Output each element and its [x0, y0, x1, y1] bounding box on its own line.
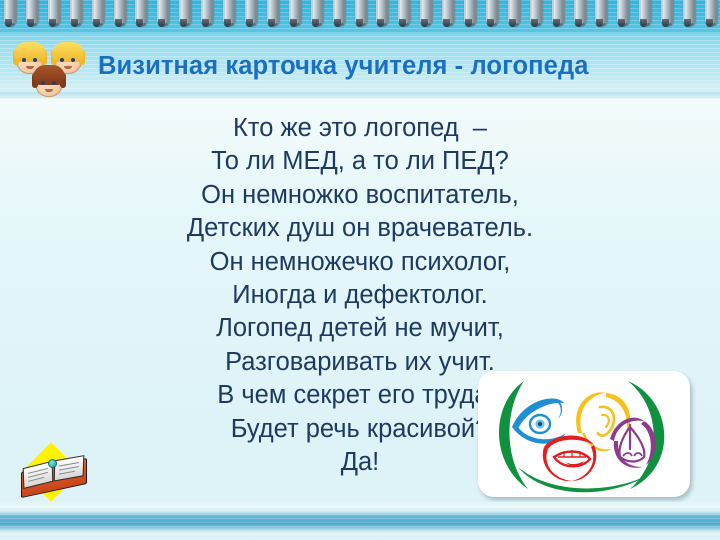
- spiral-ring: [311, 0, 322, 26]
- spiral-ring: [683, 0, 694, 26]
- spiral-ring: [486, 0, 497, 26]
- spiral-ring-tip: [49, 19, 56, 27]
- spiral-ring: [245, 0, 256, 26]
- spiral-ring: [355, 0, 366, 26]
- spiral-ring-tip: [575, 19, 582, 27]
- spiral-ring-tip: [224, 19, 231, 27]
- footer-band: [0, 502, 720, 540]
- three-children-heads-icon: [13, 41, 87, 99]
- spiral-ring-tip: [662, 19, 669, 27]
- green-arc-right: [628, 381, 664, 489]
- spiral-ring: [92, 0, 103, 26]
- spiral-ring: [135, 0, 146, 26]
- spiral-ring: [4, 0, 15, 26]
- spiral-ring: [289, 0, 300, 26]
- spiral-ring: [705, 0, 716, 26]
- senses-logo-graphic: [478, 371, 690, 497]
- spiral-ring: [201, 0, 212, 26]
- spiral-ring-tip: [553, 19, 560, 27]
- spiral-ring: [398, 0, 409, 26]
- poem-line: Он немножечко психолог,: [0, 246, 720, 279]
- spiral-ring-tip: [202, 19, 209, 27]
- spiral-ring-tip: [706, 19, 713, 27]
- spiral-ring-tip: [290, 19, 297, 27]
- child-eye-left: [22, 58, 26, 62]
- poem-line: Он немножко воспитатель,: [0, 179, 720, 212]
- child-hair-blonde: [14, 42, 46, 62]
- spiral-ring: [552, 0, 563, 26]
- poem-line: То ли МЕД, а то ли ПЕД?: [0, 145, 720, 178]
- child-eye-right: [33, 58, 37, 62]
- spiral-ring-tip: [465, 19, 472, 27]
- senses-logo: [478, 371, 690, 497]
- spiral-ring-tip: [684, 19, 691, 27]
- book-gem-icon: [48, 459, 57, 468]
- spiral-ring-tip: [334, 19, 341, 27]
- slide-canvas: Визитная карточка учителя - логопеда Кто…: [0, 0, 720, 540]
- poem-line: Логопед детей не мучит,: [0, 312, 720, 345]
- child-hair-brown: [33, 65, 65, 85]
- spiral-ring: [267, 0, 278, 26]
- child-eye-right: [71, 58, 75, 62]
- poem-line: Детских душ он врачеватель.: [0, 212, 720, 245]
- spiral-binding: [0, 0, 720, 34]
- spiral-ring: [114, 0, 125, 26]
- spiral-ring-tip: [268, 19, 275, 27]
- spiral-ring-tip: [487, 19, 494, 27]
- spiral-ring: [333, 0, 344, 26]
- spiral-ring: [157, 0, 168, 26]
- header-bottom-edge: [0, 92, 720, 100]
- nose-glyph: [610, 418, 656, 468]
- spiral-ring: [574, 0, 585, 26]
- spiral-ring: [26, 0, 37, 26]
- poem-line: Иногда и дефектолог.: [0, 279, 720, 312]
- spiral-ring-tip: [443, 19, 450, 27]
- child-eye-left: [41, 81, 45, 85]
- spiral-ring: [639, 0, 650, 26]
- spiral-ring: [70, 0, 81, 26]
- spiral-ring-tip: [531, 19, 538, 27]
- spiral-ring-tip: [71, 19, 78, 27]
- spiral-ring: [223, 0, 234, 26]
- page-title: Визитная карточка учителя - логопеда: [98, 52, 708, 81]
- header-band: [0, 0, 720, 98]
- spiral-ring: [508, 0, 519, 26]
- green-arc-bottom: [518, 467, 648, 492]
- spiral-ring: [48, 0, 59, 26]
- spiral-ring: [464, 0, 475, 26]
- eye-glyph: [512, 398, 566, 443]
- spiral-ring: [595, 0, 606, 26]
- spiral-ring: [420, 0, 431, 26]
- child-eye-left: [60, 58, 64, 62]
- spiral-ring-tip: [312, 19, 319, 27]
- spiral-ring-tip: [93, 19, 100, 27]
- spiral-ring: [617, 0, 628, 26]
- spiral-ring-tip: [5, 19, 12, 27]
- child-eye-right: [52, 81, 56, 85]
- child-hair-blonde: [52, 42, 84, 62]
- spiral-ring-tip: [509, 19, 516, 27]
- open-book-icon: [18, 447, 98, 509]
- mouth-glyph: [543, 435, 597, 481]
- spiral-ring: [179, 0, 190, 26]
- spiral-ring-tip: [246, 19, 253, 27]
- spiral-ring-tip: [27, 19, 34, 27]
- spiral-ring: [661, 0, 672, 26]
- poem-line: Кто же это логопед –: [0, 112, 720, 145]
- spiral-ring-tip: [115, 19, 122, 27]
- spiral-ring: [376, 0, 387, 26]
- spiral-ring: [530, 0, 541, 26]
- spiral-ring: [442, 0, 453, 26]
- child-head-brunette: [32, 64, 66, 98]
- spiral-ring-tip: [356, 19, 363, 27]
